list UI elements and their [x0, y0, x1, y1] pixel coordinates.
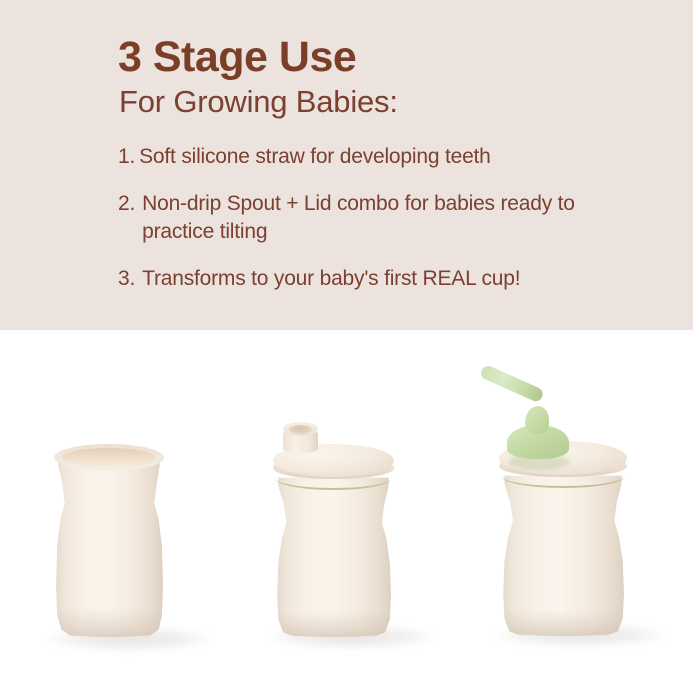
product-stage-1-open-cup	[40, 430, 215, 660]
list-item-text: Transforms to your baby's first REAL cup…	[142, 265, 638, 293]
cup-rim-interior	[62, 448, 156, 467]
spout-opening	[289, 425, 312, 434]
page-subtitle: For Growing Babies:	[119, 84, 398, 120]
straw-elbow	[525, 406, 549, 434]
list-item-text: Non-drip Spout + Lid combo for babies re…	[142, 190, 638, 246]
list-item: 2. Non-drip Spout + Lid combo for babies…	[118, 190, 638, 246]
benefits-list: 1. Soft silicone straw for developing te…	[118, 143, 638, 312]
list-item-number: 2.	[118, 190, 135, 218]
page-title: 3 Stage Use	[118, 33, 356, 81]
list-item: 1. Soft silicone straw for developing te…	[118, 143, 638, 171]
cup-body	[276, 476, 391, 637]
cup-body	[55, 454, 163, 637]
list-item-number: 1.	[118, 143, 135, 171]
product-stage-2-spout-lid-cup	[258, 422, 438, 662]
product-stage-3-straw-cup	[482, 370, 667, 660]
cup-body	[502, 474, 624, 636]
list-item-number: 3.	[118, 265, 135, 293]
list-item: 3. Transforms to your baby's first REAL …	[118, 265, 638, 293]
list-item-text: Soft silicone straw for developing teeth	[139, 143, 638, 171]
product-feature-image: 3 Stage Use For Growing Babies: 1. Soft …	[0, 0, 693, 693]
straw-tube	[479, 364, 545, 404]
text-panel: 3 Stage Use For Growing Babies: 1. Soft …	[0, 0, 693, 330]
product-photo-panel	[0, 330, 693, 693]
